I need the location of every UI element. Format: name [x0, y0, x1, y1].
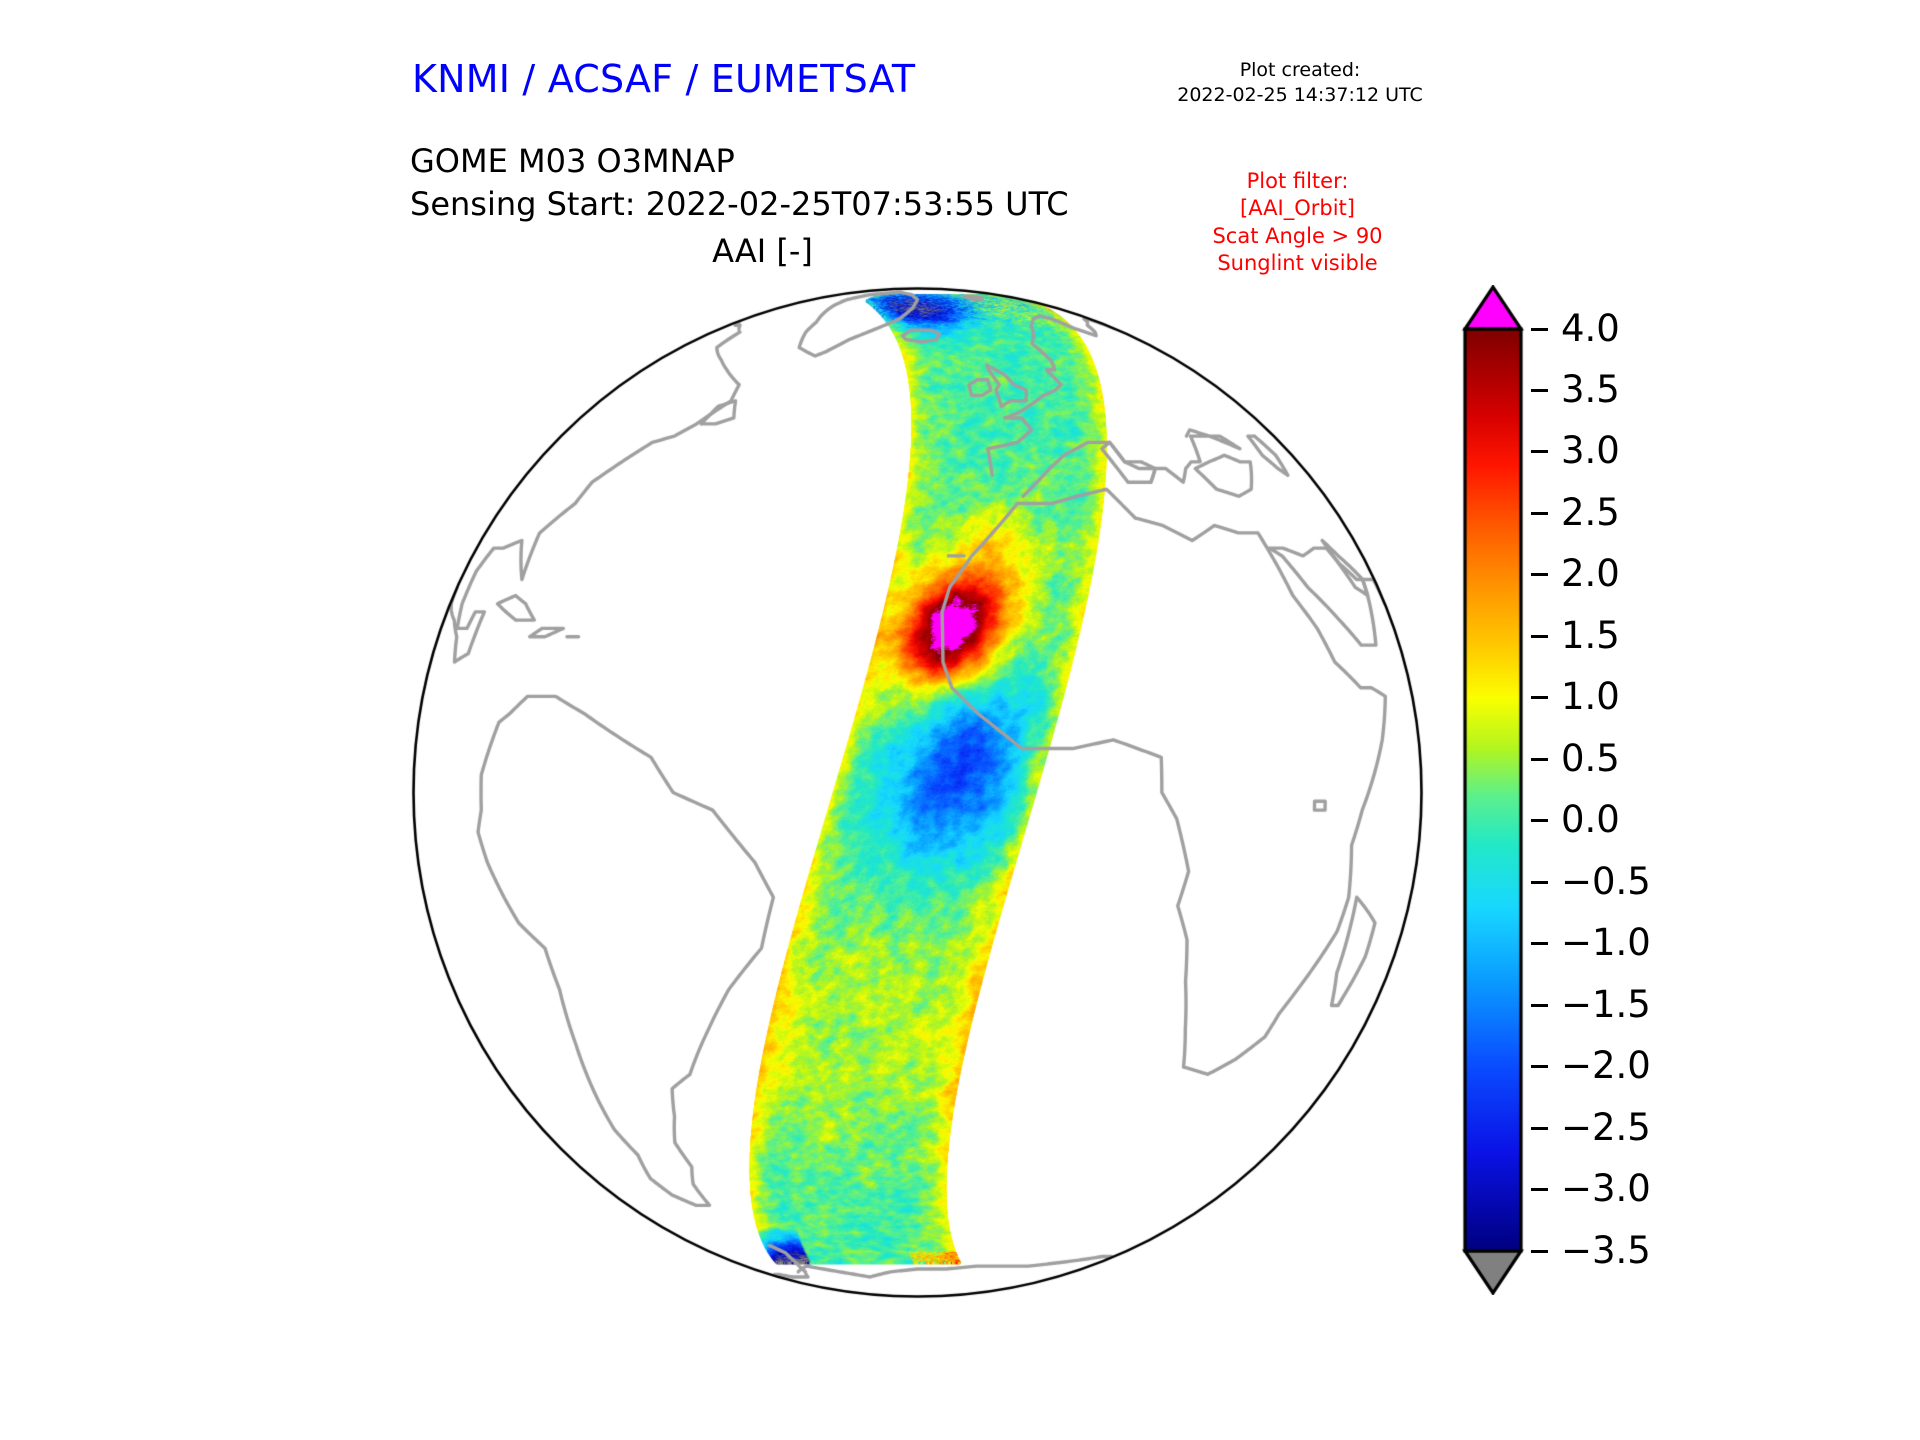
colorbar-tick-label: −1.5: [1561, 986, 1651, 1023]
colorbar-tick-mark: [1531, 758, 1548, 761]
colorbar-tick-label: −3.0: [1561, 1170, 1651, 1207]
plot-created-timestamp: 2022-02-25 14:37:12 UTC: [1155, 83, 1445, 108]
colorbar-tick-label: 1.0: [1561, 678, 1620, 715]
colorbar-tick-mark: [1531, 696, 1548, 699]
colorbar-tick-mark: [1531, 328, 1548, 331]
plot-created-label: Plot created:: [1155, 58, 1445, 83]
plot-created-block: Plot created: 2022-02-25 14:37:12 UTC: [1155, 58, 1445, 108]
plot-filter-heading: Plot filter:: [1150, 168, 1445, 195]
colorbar-tick-mark: [1531, 881, 1548, 884]
colorbar-tick-mark: [1531, 512, 1548, 515]
colorbar-tick-mark: [1531, 573, 1548, 576]
colorbar: 4.03.53.02.52.01.51.00.50.0−0.5−1.0−1.5−…: [1443, 285, 1693, 1295]
colorbar-tick-mark: [1531, 450, 1548, 453]
colorbar-tick-label: −3.5: [1561, 1232, 1651, 1269]
plot-title-block: GOME M03 O3MNAP Sensing Start: 2022-02-2…: [410, 140, 1069, 226]
colorbar-tick-mark: [1531, 1004, 1548, 1007]
plot-page: KNMI / ACSAF / EUMETSAT Plot created: 20…: [0, 0, 1920, 1440]
colorbar-tick-mark: [1531, 942, 1548, 945]
plot-filter-line-2: Scat Angle > 90: [1150, 223, 1445, 250]
orthographic-globe-map: [380, 255, 1455, 1330]
colorbar-tick-label: 0.0: [1561, 801, 1620, 838]
colorbar-tick-mark: [1531, 1250, 1548, 1253]
colorbar-tick-label: 2.5: [1561, 494, 1620, 531]
colorbar-tick-mark: [1531, 1188, 1548, 1191]
colorbar-tick-label: 0.5: [1561, 740, 1620, 777]
colorbar-tick-label: −1.0: [1561, 924, 1651, 961]
colorbar-tick-label: −2.5: [1561, 1109, 1651, 1146]
plot-filter-line-1: [AAI_Orbit]: [1150, 195, 1445, 222]
colorbar-tick-label: −2.0: [1561, 1047, 1651, 1084]
colorbar-tick-mark: [1531, 635, 1548, 638]
colorbar-tick-label: 3.5: [1561, 371, 1620, 408]
colorbar-tick-label: 1.5: [1561, 617, 1620, 654]
colorbar-tick-mark: [1531, 389, 1548, 392]
colorbar-tick-mark: [1531, 1065, 1548, 1068]
sensing-start-line: Sensing Start: 2022-02-25T07:53:55 UTC: [410, 183, 1069, 226]
colorbar-tick-label: −0.5: [1561, 863, 1651, 900]
instrument-product-line: GOME M03 O3MNAP: [410, 140, 1069, 183]
colorbar-tick-label: 4.0: [1561, 310, 1620, 347]
colorbar-tick-label: 3.0: [1561, 432, 1620, 469]
colorbar-tick-mark: [1531, 1127, 1548, 1130]
colorbar-tick-mark: [1531, 819, 1548, 822]
colorbar-tick-label: 2.0: [1561, 555, 1620, 592]
organization-title: KNMI / ACSAF / EUMETSAT: [412, 57, 915, 101]
colorbar-tick-labels: 4.03.53.02.52.01.51.00.50.0−0.5−1.0−1.5−…: [1531, 285, 1701, 1295]
